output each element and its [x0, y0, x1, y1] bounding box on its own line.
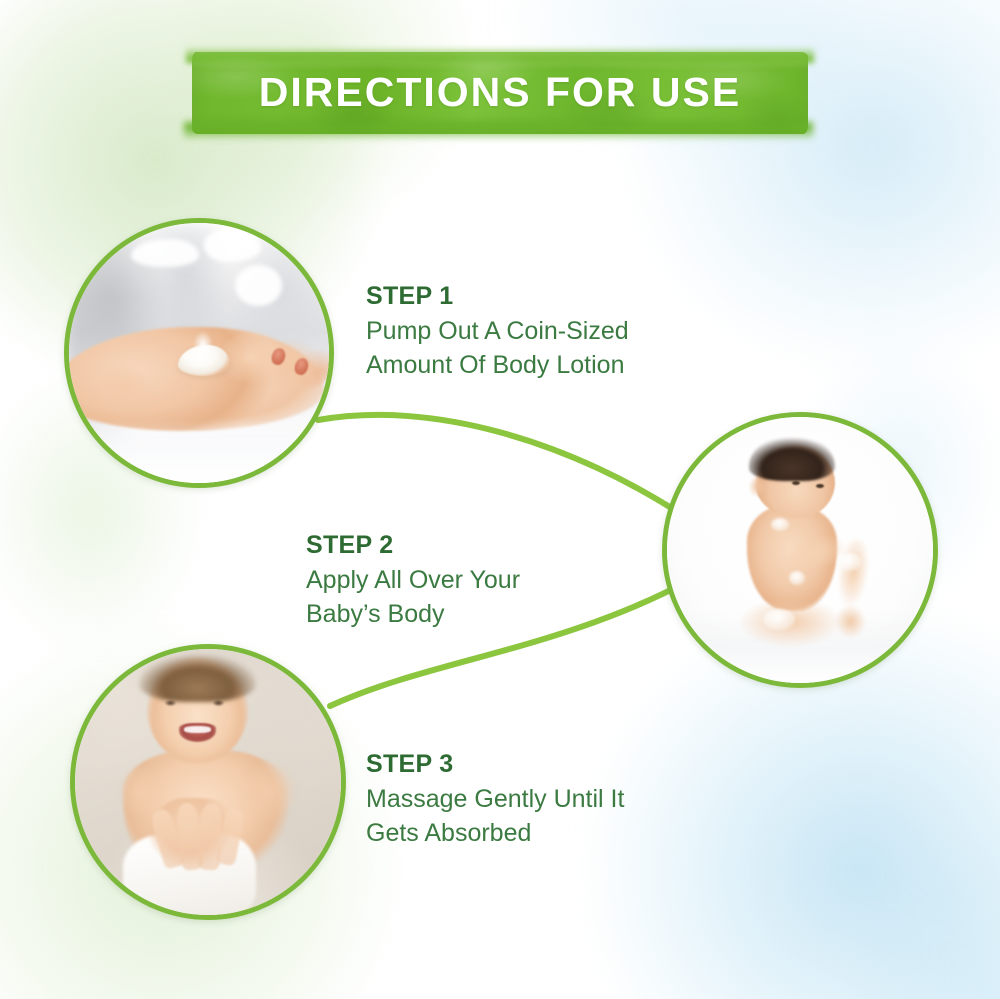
background-white-shape-c — [235, 265, 282, 307]
baby-eye-left — [792, 481, 800, 485]
step-2-label: STEP 2 — [306, 531, 520, 560]
baby-teeth — [184, 726, 211, 733]
baby-being-massaged-photo — [75, 649, 341, 915]
step-3-label: STEP 3 — [366, 750, 624, 779]
baby-eye-right — [213, 700, 224, 706]
step-1-label: STEP 1 — [366, 282, 629, 311]
step-3-text-block: STEP 3 Massage Gently Until It Gets Abso… — [366, 750, 624, 850]
baby-shoulder-right — [240, 761, 309, 830]
connector-step1-to-step2 — [318, 415, 690, 520]
step-1-line-2: Amount Of Body Lotion — [366, 349, 629, 383]
step-1-line-1: Pump Out A Coin-Sized — [366, 315, 629, 349]
hand-with-lotion-photo — [69, 223, 329, 483]
step-1-image-circle — [64, 218, 334, 488]
step-2-line-2: Baby’s Body — [306, 598, 520, 632]
step-3-image-circle — [70, 644, 346, 920]
background-white-shape-b — [204, 228, 261, 262]
lotion-smear-leg — [763, 609, 795, 630]
lotion-smear-belly — [789, 571, 805, 584]
step-1-text-block: STEP 1 Pump Out A Coin-Sized Amount Of B… — [366, 282, 629, 382]
step-2-line-1: Apply All Over Your — [306, 564, 520, 598]
step-2-text-block: STEP 2 Apply All Over Your Baby’s Body — [306, 531, 520, 631]
step-3-line-2: Gets Absorbed — [366, 817, 624, 851]
lotion-highlight — [194, 332, 212, 353]
foreground-white-blur — [90, 421, 308, 483]
baby-hair — [749, 436, 834, 481]
step-3-line-1: Massage Gently Until It — [366, 783, 624, 817]
step-2-image-circle — [662, 412, 938, 688]
directions-for-use-poster: DIRECTIONS FOR USE — [0, 0, 1000, 999]
baby-eye-left — [165, 700, 176, 706]
baby-applying-lotion-photo — [667, 417, 933, 683]
baby-eye-right — [816, 484, 824, 488]
